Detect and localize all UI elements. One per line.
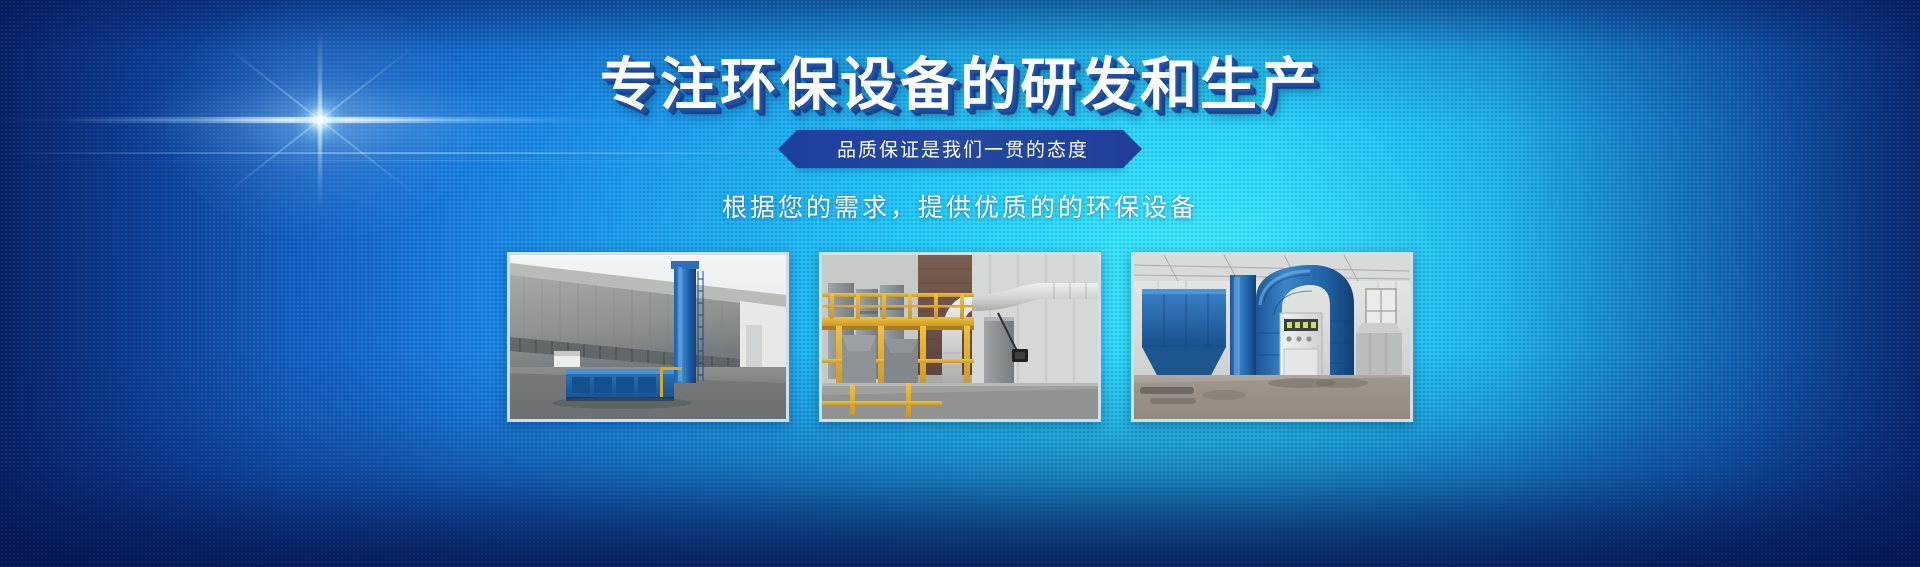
photo-workshop-platform	[819, 252, 1101, 422]
photo-factory-exterior	[507, 252, 789, 422]
quality-badge-label: 品质保证是我们一贯的态度	[837, 135, 1089, 162]
photo-dust-collector	[1131, 252, 1413, 422]
badge-row: 品质保证是我们一贯的态度	[0, 130, 1920, 168]
hero-banner: 专注环保设备的研发和生产 品质保证是我们一贯的态度 根据您的需求，提供优质的的环…	[0, 0, 1920, 567]
banner-headline: 专注环保设备的研发和生产	[600, 56, 1320, 116]
banner-content: 专注环保设备的研发和生产 品质保证是我们一贯的态度 根据您的需求，提供优质的的环…	[0, 0, 1920, 567]
quality-badge: 品质保证是我们一贯的态度	[797, 130, 1123, 168]
badge-notch	[797, 130, 814, 168]
photo-strip	[507, 252, 1413, 422]
banner-tagline: 根据您的需求，提供优质的的环保设备	[722, 188, 1198, 224]
